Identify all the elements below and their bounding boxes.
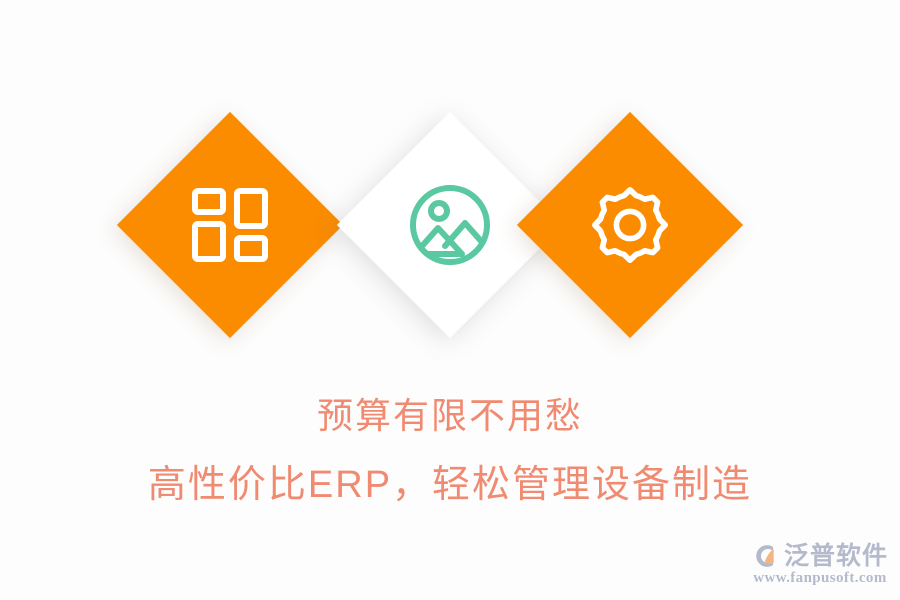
diamond-tile-left[interactable] xyxy=(117,112,343,338)
watermark-brand-row: 泛普软件 xyxy=(752,542,888,570)
headline-line-1: 预算有限不用愁 xyxy=(0,398,900,434)
diamond-right-icon-holder xyxy=(550,145,710,305)
watermark-url: www.fanpusoft.com xyxy=(753,571,886,586)
headline-line-2: 高性价比ERP，轻松管理设备制造 xyxy=(0,466,900,504)
diamond-center-icon-holder xyxy=(370,145,530,305)
image-circle-icon xyxy=(407,182,493,268)
watermark-logo: 泛普软件 www.fanpusoft.com xyxy=(752,542,888,586)
diamond-cluster xyxy=(0,0,900,380)
headline-block: 预算有限不用愁 高性价比ERP，轻松管理设备制造 xyxy=(0,398,900,504)
watermark-brand-name: 泛普软件 xyxy=(784,544,888,569)
gear-icon xyxy=(590,185,670,265)
diamond-left-icon-holder xyxy=(150,145,310,305)
diamond-tile-right[interactable] xyxy=(517,112,743,338)
banner-root: 预算有限不用愁 高性价比ERP，轻松管理设备制造 泛普软件 www.fanpus… xyxy=(0,0,900,600)
grid-icon xyxy=(192,188,268,262)
fanpu-logo-icon xyxy=(752,542,780,570)
